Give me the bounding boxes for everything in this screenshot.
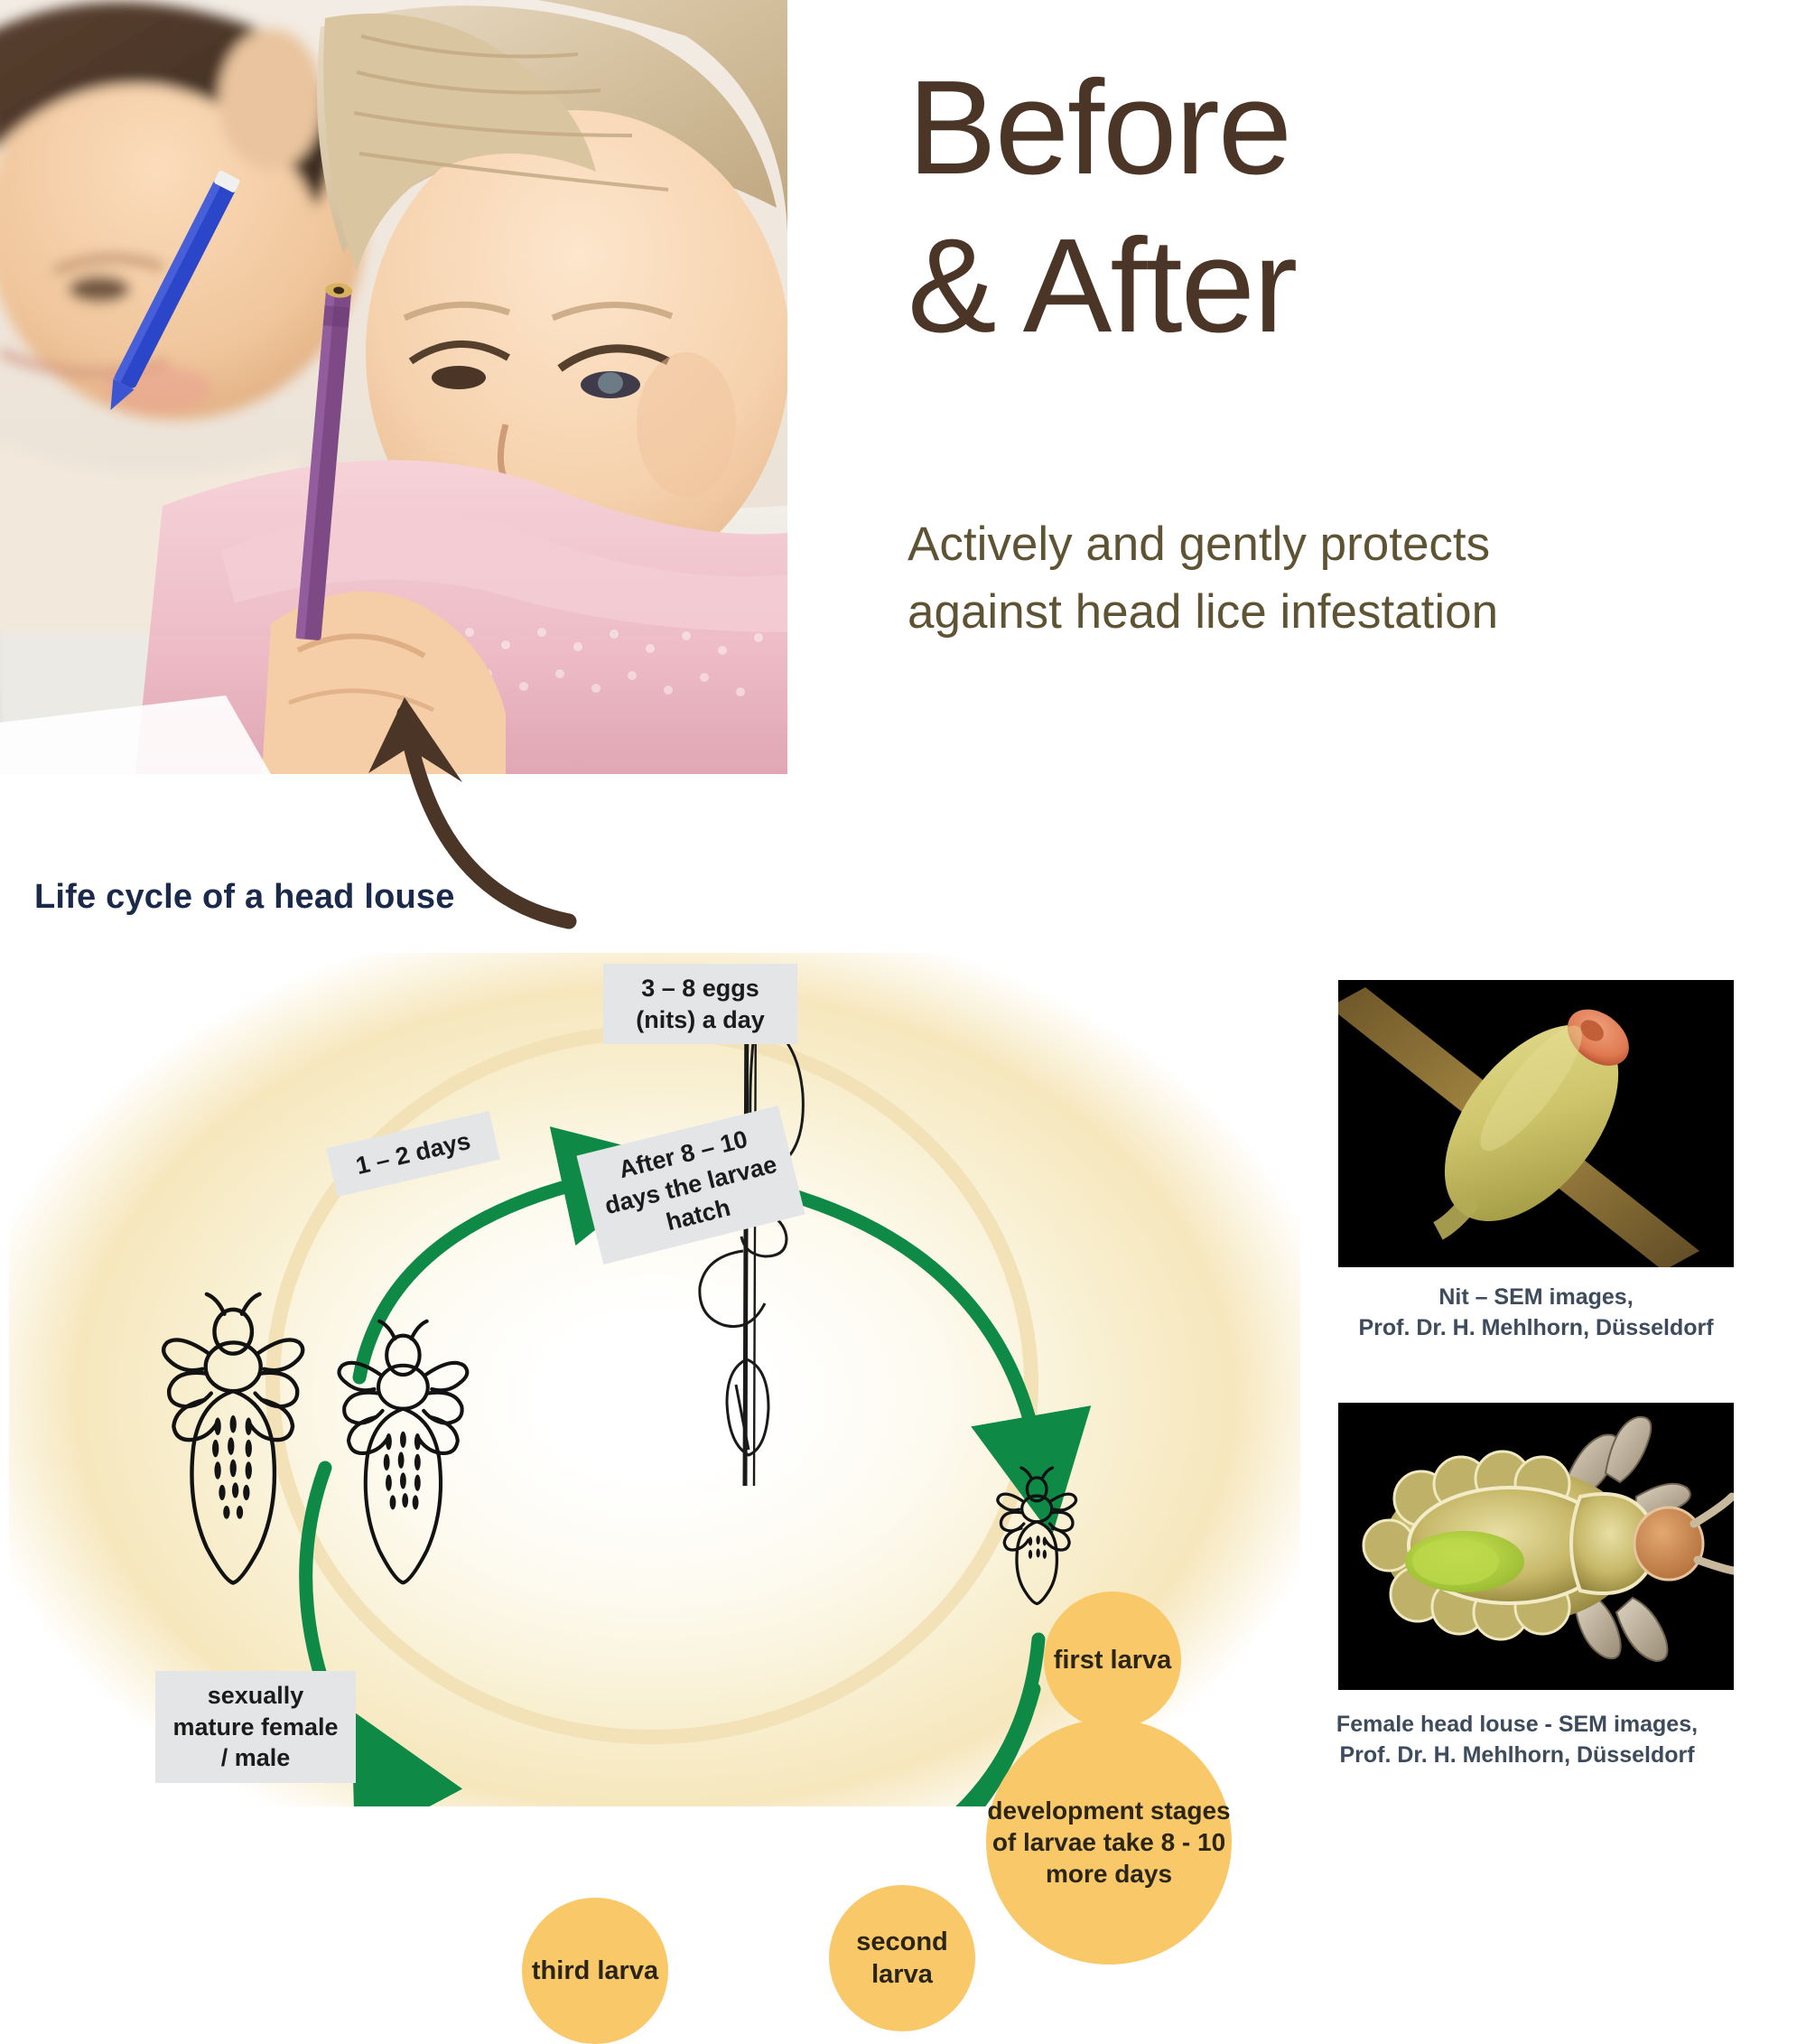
sem-caption-female-louse-text: Female head louse - SEM images, Prof. Dr… bbox=[1336, 1712, 1698, 1768]
subheadline: Actively and gently protects against hea… bbox=[908, 510, 1540, 647]
page-title: Before & After bbox=[908, 50, 1720, 365]
label-sexually-mature: sexually mature female / male bbox=[155, 1671, 356, 1783]
headline-line-2: & After bbox=[908, 208, 1720, 366]
sem-caption-female-louse: Female head louse - SEM images, Prof. Dr… bbox=[1282, 1710, 1752, 1771]
life-cycle-diagram: 3 – 8 eggs (nits) a day 1 – 2 days After… bbox=[9, 953, 1300, 1806]
stage-circle-development: development stages of larvae take 8 - 10… bbox=[986, 1719, 1232, 1965]
label-eggs-per-day: 3 – 8 eggs (nits) a day bbox=[603, 964, 797, 1044]
curved-arrow-icon bbox=[298, 596, 677, 957]
headline-line-1: Before bbox=[908, 53, 1290, 202]
sem-image-nit bbox=[1338, 980, 1734, 1267]
sem-caption-nit: Nit – SEM images, Prof. Dr. H. Mehlhorn,… bbox=[1301, 1283, 1771, 1344]
stage-circle-first-larva: first larva bbox=[1044, 1591, 1181, 1729]
sem-caption-nit-text: Nit – SEM images, Prof. Dr. H. Mehlhorn,… bbox=[1358, 1284, 1713, 1340]
stage-circle-second-larva: second larva bbox=[829, 1885, 975, 2031]
stage-circle-third-larva: third larva bbox=[522, 1898, 668, 2044]
sem-image-female-louse bbox=[1338, 1403, 1734, 1690]
